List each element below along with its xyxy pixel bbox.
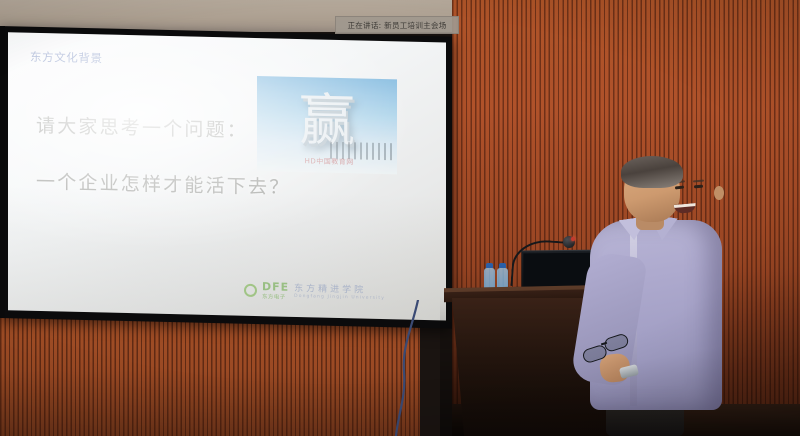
speaker-eye xyxy=(694,185,703,189)
speaker-eye xyxy=(675,186,684,190)
slide-line-1: 请大家思考一个问题： xyxy=(36,111,248,143)
slide-photo: 赢 HD中国教育网 xyxy=(257,76,397,174)
speaker xyxy=(584,158,734,436)
speaker-hair xyxy=(621,156,683,188)
lecture-hall-scene: 东方文化背景 请大家思考一个问题： 一个企业怎样才能活下去？ 赢 HD中国教育网… xyxy=(0,0,800,436)
screen-left-edge xyxy=(0,26,5,318)
microphone-led-icon xyxy=(571,237,575,241)
circle-leaf-icon xyxy=(244,284,257,297)
logo-abbreviation: DFE xyxy=(262,281,289,293)
speaker-mouth xyxy=(674,203,697,214)
slide-surface: 东方文化背景 请大家思考一个问题： 一个企业怎样才能活下去？ 赢 HD中国教育网… xyxy=(8,32,446,320)
slide-title: 东方文化背景 xyxy=(30,49,103,67)
slide-line-2: 一个企业怎样才能活下去？ xyxy=(36,167,290,200)
logo-school-en: Dongfang Jingjin University xyxy=(294,294,385,301)
speaker-ear xyxy=(714,186,724,200)
projection-screen: 东方文化背景 请大家思考一个问题： 一个企业怎样才能活下去？ 赢 HD中国教育网… xyxy=(0,26,452,329)
wood-slat-wall-left xyxy=(0,316,420,436)
status-banner-text: 正在讲话: 新员工培训主会场 xyxy=(347,20,446,31)
status-banner: 正在讲话: 新员工培训主会场 xyxy=(335,16,459,34)
slide-footer-logo: DFE 东方电子 东方精进学院 Dongfang Jingjin Univers… xyxy=(244,281,385,303)
speaker-eyebrow xyxy=(693,180,704,183)
photo-watermark: HD中国教育网 xyxy=(305,156,354,167)
logo-company-cn: 东方电子 xyxy=(262,292,289,301)
